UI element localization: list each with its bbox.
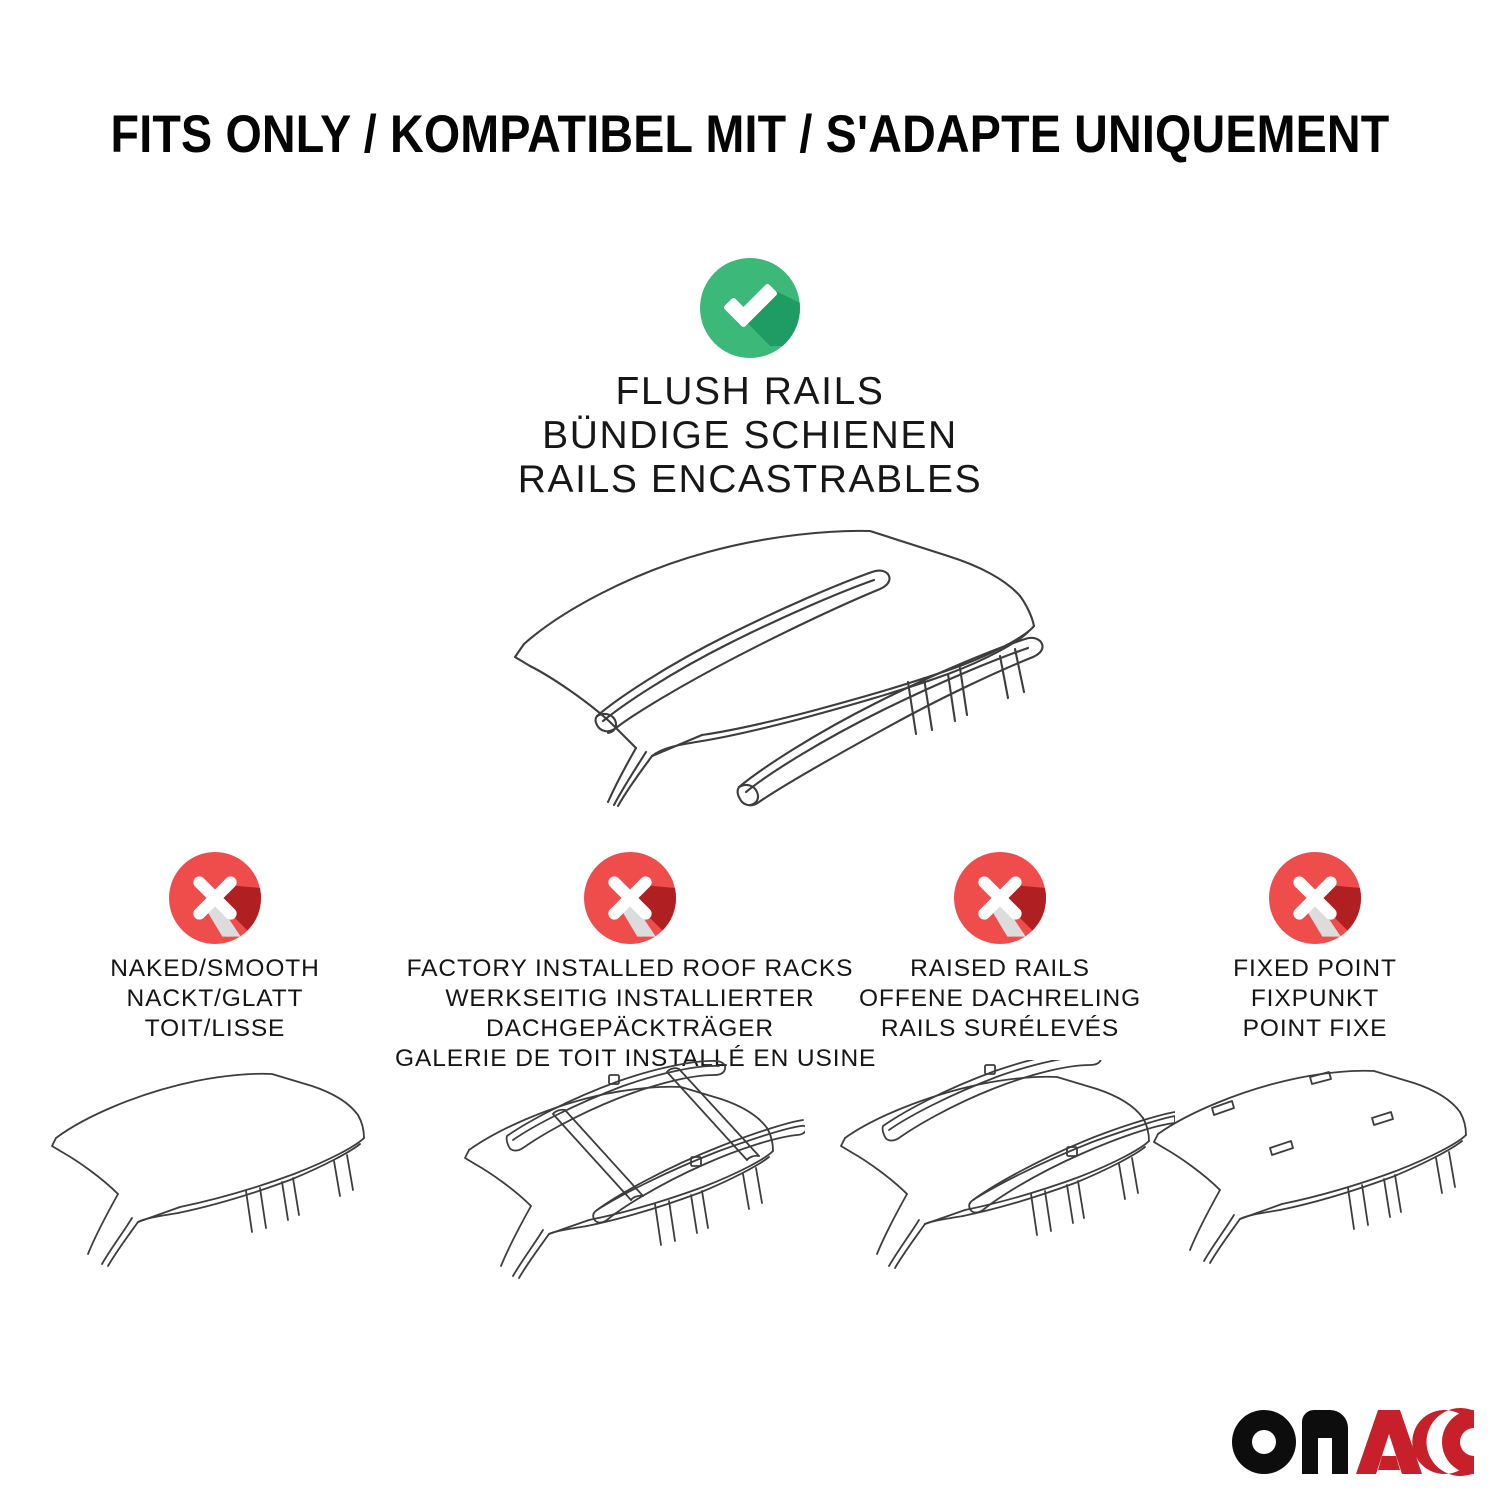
cross-circle-icon <box>584 852 676 944</box>
cross-circle-icon <box>954 852 1046 944</box>
cross-circle-icon <box>1269 852 1361 944</box>
logo-letter-a <box>1356 1410 1422 1474</box>
incompatible-item-factory-roof-racks: FACTORY INSTALLED ROOF RACKS WERKSEITIG … <box>395 852 865 1290</box>
caption-line-de-1: WERKSEITIG INSTALLIERTER <box>395 984 865 1014</box>
check-circle-icon <box>700 258 800 358</box>
incompatible-caption: FACTORY INSTALLED ROOF RACKS WERKSEITIG … <box>395 954 865 1074</box>
car-roof-raised-rails-illustration <box>825 1060 1175 1275</box>
compatible-line-de: BÜNDIGE SCHIENEN <box>0 414 1500 458</box>
incompatible-caption: NAKED/SMOOTH NACKT/GLATT TOIT/LISSE <box>15 954 415 1044</box>
caption-line-de: FIXPUNKT <box>1140 984 1490 1014</box>
caption-line-de-2: DACHGEPÄCKTRÄGER <box>395 1014 865 1044</box>
car-roof-factory-roof-racks-illustration <box>455 1060 805 1290</box>
caption-line-fr: GALERIE DE TOIT INSTALLÉ EN USINE <box>395 1044 865 1074</box>
compatible-line-fr: RAILS ENCASTRABLES <box>0 458 1500 502</box>
logo-letter-o <box>1232 1410 1296 1474</box>
compatible-line-en: FLUSH RAILS <box>0 370 1500 414</box>
incompatible-caption: FIXED POINT FIXPUNKT POINT FIXE <box>1140 954 1490 1044</box>
compatible-section: FLUSH RAILS BÜNDIGE SCHIENEN RAILS ENCAS… <box>0 258 1500 816</box>
incompatible-item-fixed-point: FIXED POINT FIXPUNKT POINT FIXE <box>1140 852 1490 1275</box>
illustration-wrap <box>1140 1060 1490 1275</box>
illustration-wrap <box>15 1060 415 1275</box>
omac-logo <box>1232 1408 1474 1476</box>
page-title: FITS ONLY / KOMPATIBEL MIT / S'ADAPTE UN… <box>90 104 1410 165</box>
caption-line-en: FIXED POINT <box>1140 954 1490 984</box>
compatible-caption: FLUSH RAILS BÜNDIGE SCHIENEN RAILS ENCAS… <box>0 370 1500 502</box>
car-roof-naked-smooth-illustration <box>50 1060 380 1275</box>
caption-line-en: NAKED/SMOOTH <box>15 954 415 984</box>
car-roof-fixed-point-illustration <box>1150 1060 1480 1275</box>
caption-line-fr: POINT FIXE <box>1140 1014 1490 1044</box>
caption-line-en: FACTORY INSTALLED ROOF RACKS <box>395 954 865 984</box>
cross-circle-icon <box>169 852 261 944</box>
logo-letter-m <box>1302 1410 1348 1474</box>
illustration-wrap <box>395 1060 865 1290</box>
incompatible-item-naked-smooth: NAKED/SMOOTH NACKT/GLATT TOIT/LISSE <box>15 852 415 1275</box>
caption-line-fr: TOIT/LISSE <box>15 1014 415 1044</box>
caption-line-de: NACKT/GLATT <box>15 984 415 1014</box>
incompatible-section: NAKED/SMOOTH NACKT/GLATT TOIT/LISSE <box>0 852 1500 1272</box>
car-roof-flush-rails-illustration <box>440 516 1060 816</box>
